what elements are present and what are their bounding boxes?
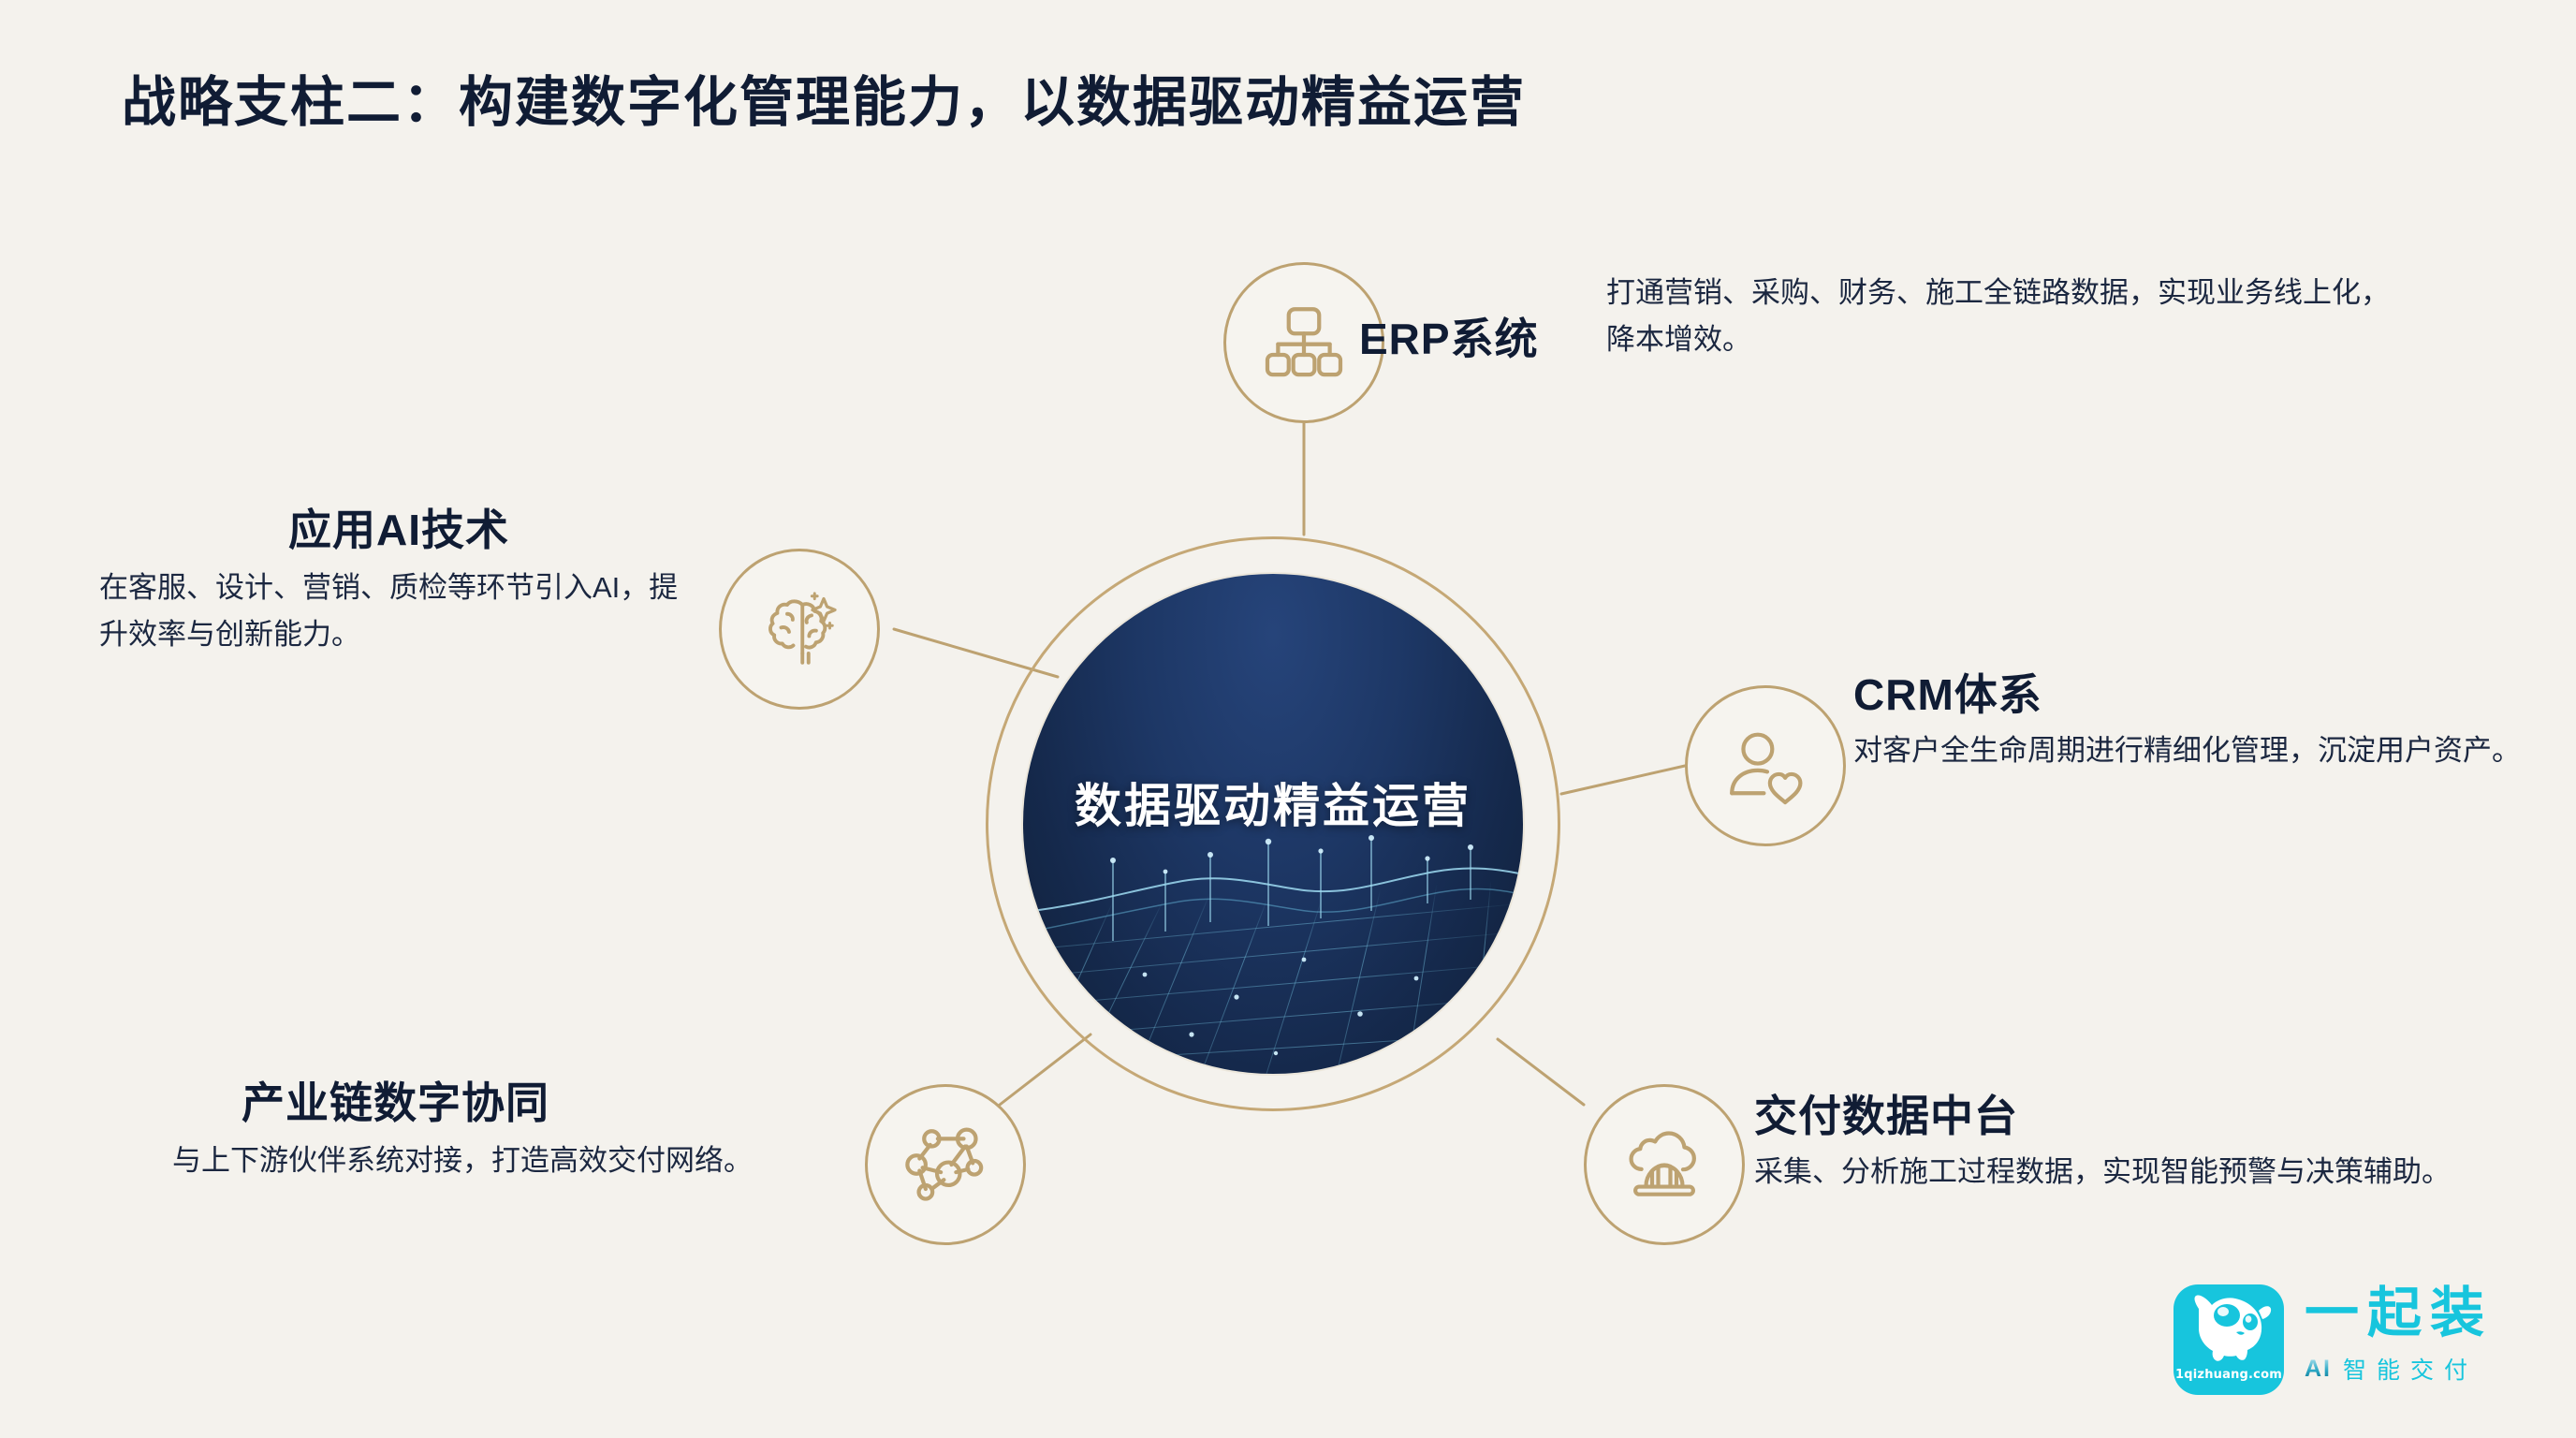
hub-circle: 数据驱动精益运营 <box>1023 574 1523 1074</box>
body-ai: 在客服、设计、营销、质检等环节引入AI，提升效率与创新能力。 <box>99 565 698 658</box>
block-crm: CRM体系 对客户全生命周期进行精细化管理，沉淀用户资产。 <box>1853 670 2576 774</box>
body-erp: 打通营销、采购、财务、施工全链路数据，实现业务线上化，降本增效。 <box>1606 270 2411 363</box>
heading-delivery: 交付数据中台 <box>1754 1092 2475 1141</box>
heading-ai: 应用AI技术 <box>99 506 698 555</box>
logo-domain: 1qizhuang.com <box>2173 1368 2284 1382</box>
node-icon-chain[interactable] <box>865 1084 1026 1245</box>
brand-tagline-text: 智能交付 <box>2343 1352 2478 1386</box>
network-nodes-icon <box>897 1116 994 1213</box>
yiqizhuang-mascot-icon <box>2182 1288 2276 1369</box>
brand-tagline-ai: AI <box>2305 1356 2332 1383</box>
block-chain: 产业链数字协同 与上下游伙伴系统对接，打造高效交付网络。 <box>172 1078 827 1184</box>
cloud-hardhat-icon <box>1616 1116 1713 1213</box>
node-icon-crm[interactable] <box>1685 685 1846 846</box>
brain-sparkle-icon <box>751 580 848 678</box>
body-chain: 与上下游伙伴系统对接，打造高效交付网络。 <box>172 1137 827 1184</box>
body-crm: 对客户全生命周期进行精细化管理，沉淀用户资产。 <box>1853 727 2576 774</box>
brand-logo[interactable]: 1qizhuang.com 一起装 AI 智能交付 <box>2173 1284 2493 1395</box>
logo-text: 一起装 AI 智能交付 <box>2305 1284 2493 1386</box>
user-heart-icon <box>1717 717 1814 814</box>
block-delivery: 交付数据中台 采集、分析施工过程数据，实现智能预警与决策辅助。 <box>1754 1092 2475 1196</box>
hub-label: 数据驱动精益运营 <box>1023 769 1523 836</box>
heading-chain: 产业链数字协同 <box>241 1078 827 1128</box>
infographic-canvas: 战略支柱二：构建数字化管理能力，以数据驱动精益运营 <box>0 0 2576 1438</box>
node-icon-ai[interactable] <box>719 549 880 710</box>
node-icon-delivery[interactable] <box>1584 1084 1745 1245</box>
block-ai: 应用AI技术 在客服、设计、营销、质检等环节引入AI，提升效率与创新能力。 <box>99 506 698 658</box>
block-erp: ERP系统 打通营销、采购、财务、施工全链路数据，实现业务线上化，降本增效。 <box>1606 270 2411 363</box>
org-chart-icon <box>1255 294 1353 391</box>
heading-erp: ERP系统 <box>1359 315 1539 364</box>
heading-crm: CRM体系 <box>1853 670 2576 720</box>
brand-name: 一起装 <box>2305 1286 2493 1341</box>
logo-mark: 1qizhuang.com <box>2173 1284 2284 1395</box>
body-delivery: 采集、分析施工过程数据，实现智能预警与决策辅助。 <box>1754 1149 2475 1196</box>
brand-tagline: AI 智能交付 <box>2305 1352 2493 1386</box>
